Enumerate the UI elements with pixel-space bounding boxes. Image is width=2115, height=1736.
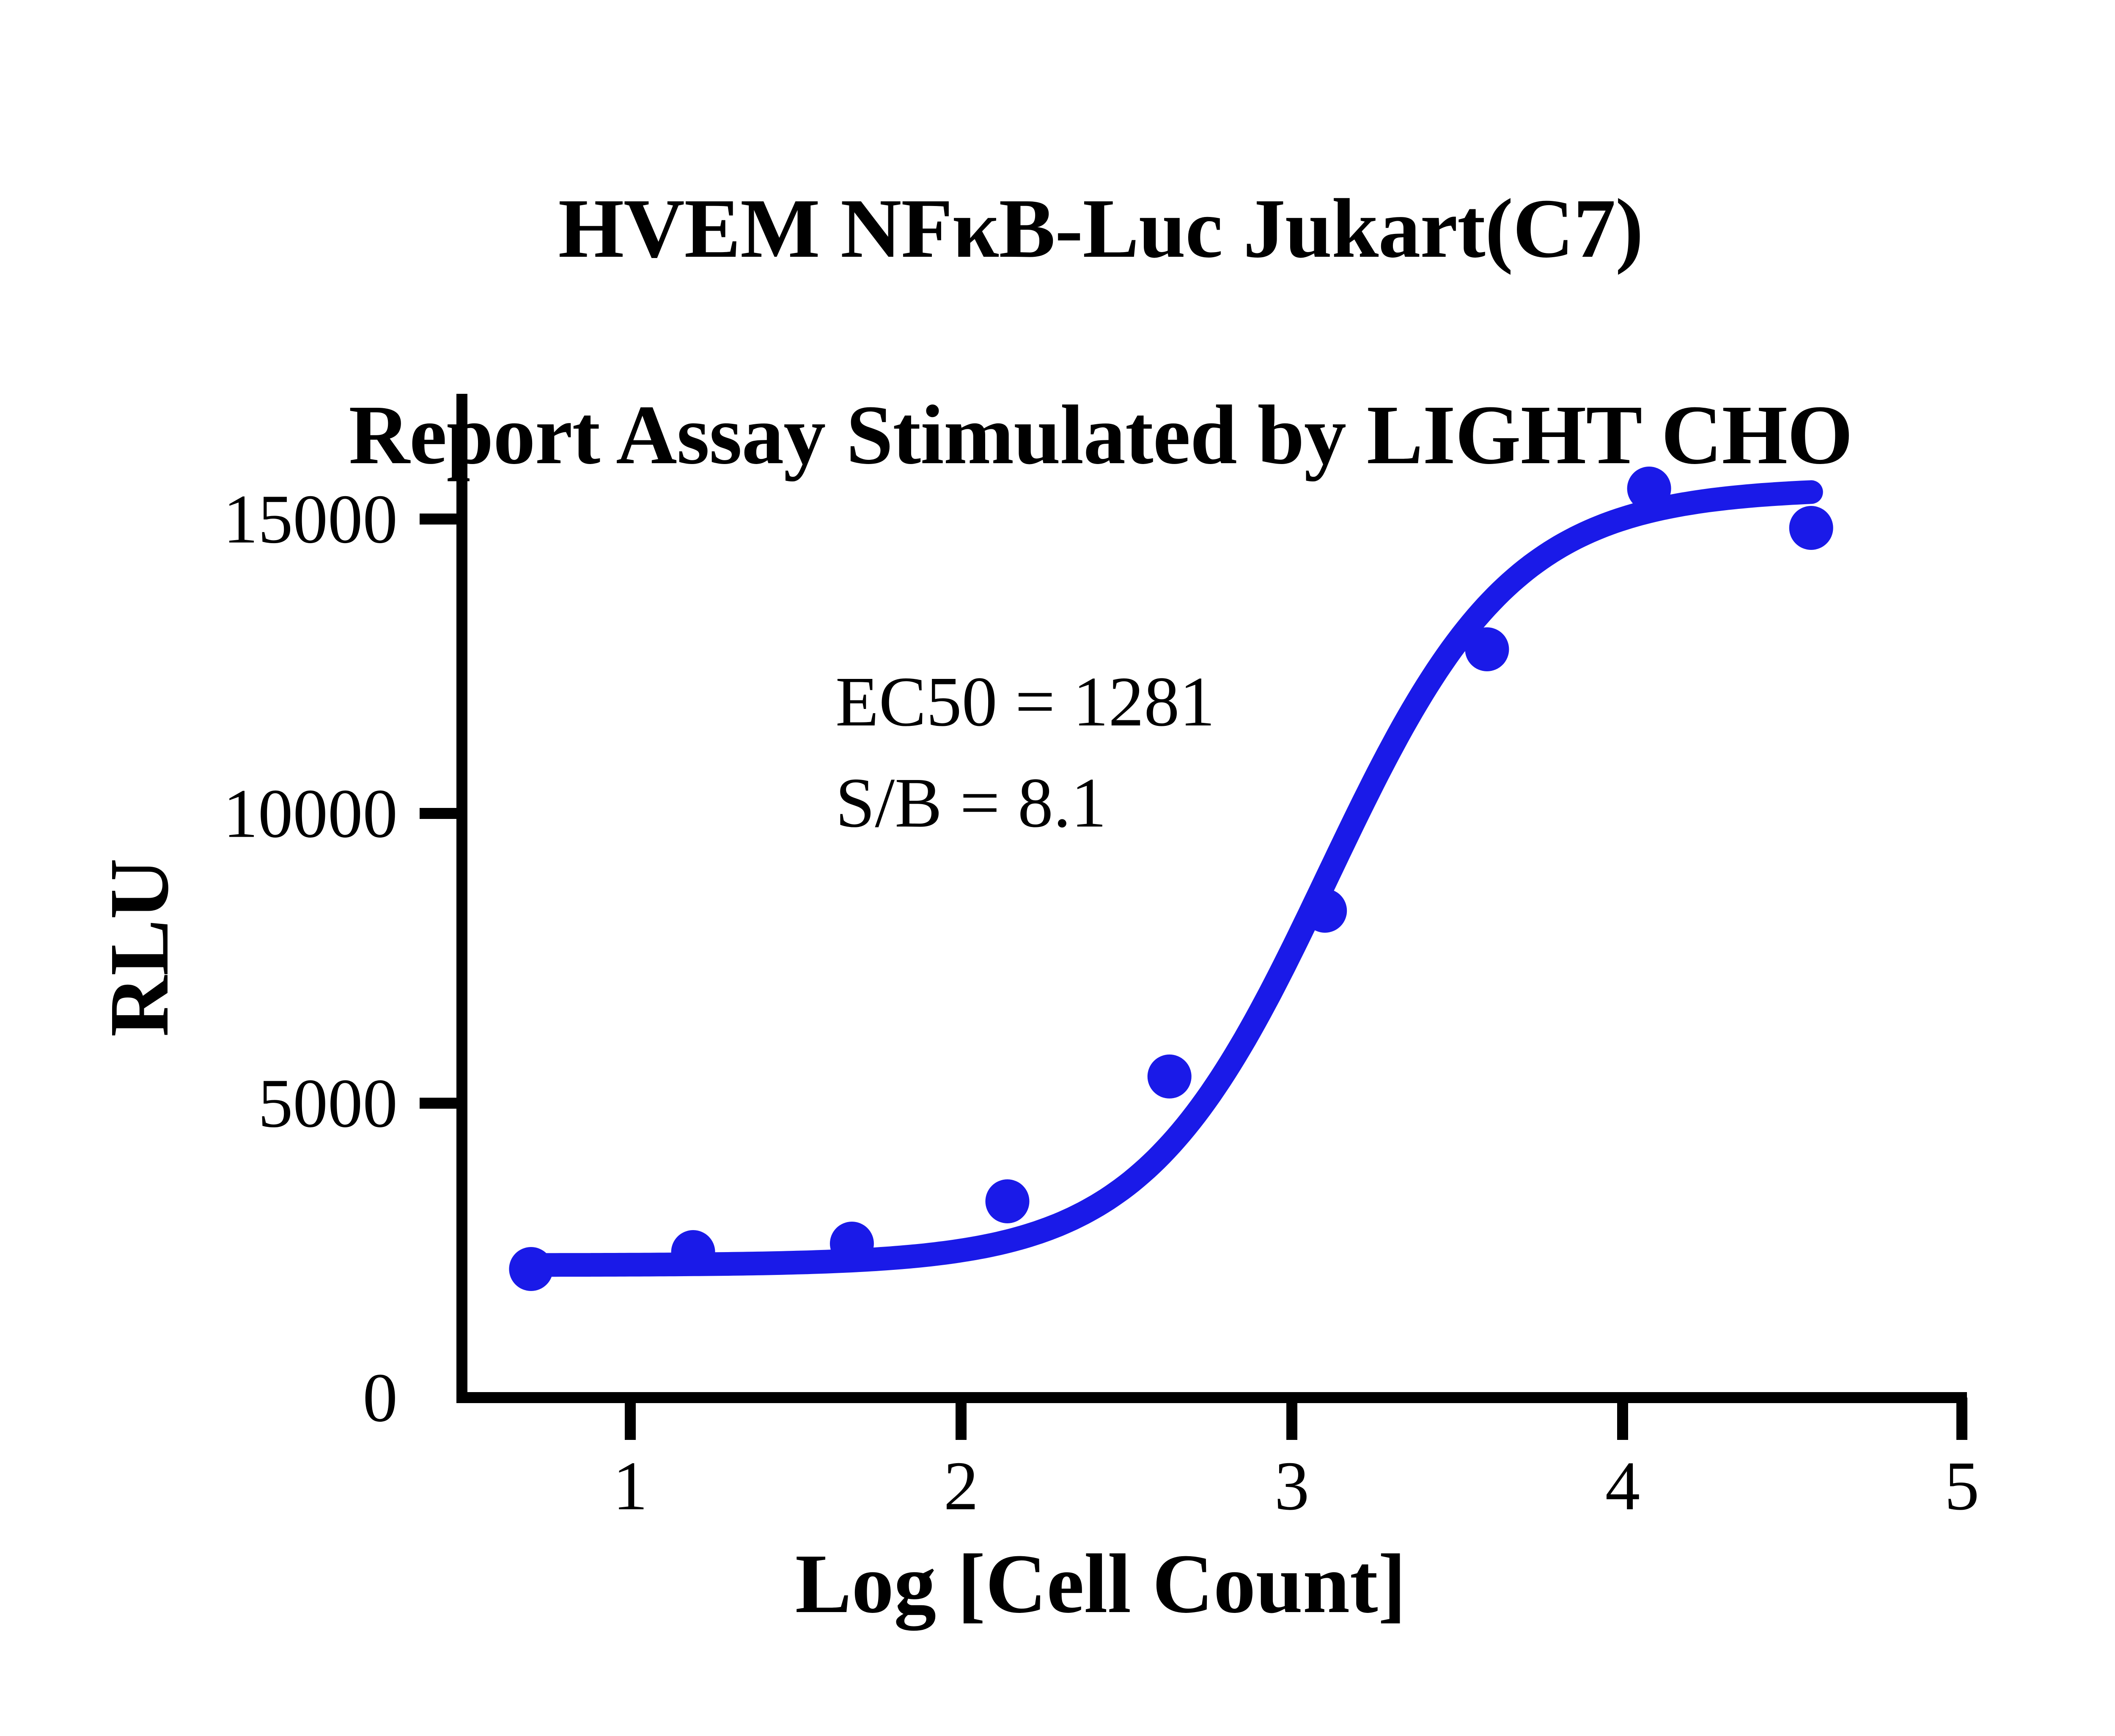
data-point [1303, 889, 1347, 933]
data-point-markers [509, 467, 1833, 1291]
x-tick-label-4: 4 [1605, 1451, 1640, 1521]
x-axis-title: Log [Cell Count] [0, 1542, 2115, 1626]
y-tick-label-15000: 15000 [59, 484, 398, 554]
y-tick-label-0: 0 [59, 1363, 398, 1433]
statistics-annotation: EC50 = 1281 S/B = 8.1 [835, 651, 1215, 853]
data-point [1148, 1055, 1192, 1099]
y-tick-label-5000: 5000 [59, 1069, 398, 1138]
data-point [671, 1230, 715, 1274]
y-axis-ticks [420, 519, 462, 1103]
data-point [830, 1222, 874, 1266]
x-tick-label-1: 1 [613, 1451, 648, 1521]
x-tick-label-5: 5 [1945, 1451, 1980, 1521]
sb-annotation: S/B = 8.1 [835, 753, 1215, 854]
y-tick-label-10000: 10000 [59, 779, 398, 849]
data-point [1789, 506, 1833, 550]
chart-figure: HVEM NFκB-Luc Jukart(C7) Report Assay St… [0, 0, 2115, 1736]
y-axis-title: RLU [97, 858, 182, 1037]
ec50-annotation: EC50 = 1281 [835, 651, 1215, 753]
plot-area [0, 0, 2115, 1736]
data-point [1465, 627, 1509, 671]
data-point [509, 1247, 553, 1291]
fit-curve [531, 492, 1811, 1265]
x-axis-ticks [630, 1398, 1962, 1440]
x-tick-label-2: 2 [944, 1451, 979, 1521]
data-point [986, 1179, 1030, 1223]
data-point [1627, 467, 1671, 511]
x-tick-label-3: 3 [1274, 1451, 1310, 1521]
